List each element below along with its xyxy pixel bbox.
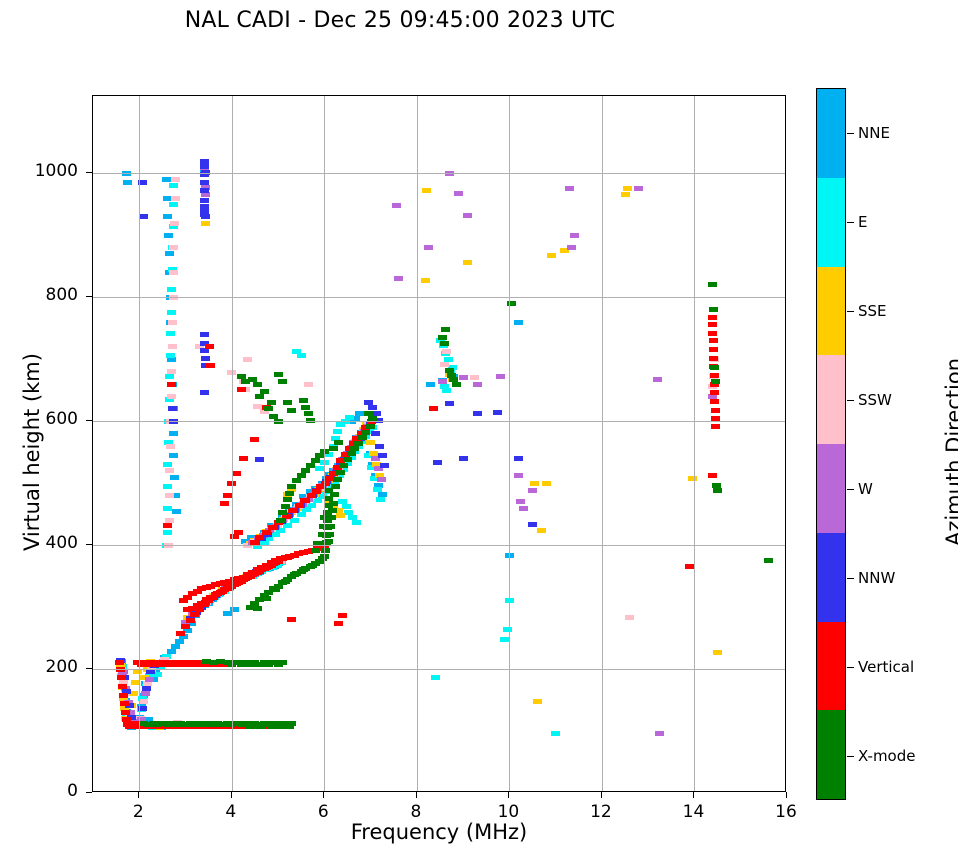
ionogram-plot-area[interactable] — [92, 95, 786, 792]
figure-root: NAL CADI - Dec 25 09:45:00 2023 UTC Freq… — [0, 0, 958, 857]
echo-point-w — [570, 233, 579, 238]
x-tick — [508, 792, 509, 798]
echo-point-vertical — [255, 535, 264, 540]
echo-point-nnw — [380, 463, 389, 468]
echo-point-w — [528, 488, 537, 493]
echo-point-e — [352, 520, 361, 525]
echo-point-nnw — [459, 456, 468, 461]
echo-point-sse — [422, 188, 431, 193]
x-tick-label: 12 — [571, 802, 631, 822]
echo-point-x-mode — [315, 453, 324, 458]
echo-point-x-mode — [361, 430, 370, 435]
echo-point-x-mode — [709, 307, 718, 312]
echo-point-vertical — [709, 347, 718, 352]
y-axis-label: Virtual height (km) — [20, 282, 44, 622]
echo-point-vertical — [709, 356, 718, 361]
echo-point-ssw — [165, 468, 174, 473]
echo-point-x-mode — [343, 457, 352, 462]
echo-point-x-mode — [304, 411, 313, 416]
colorbar-segment-x-mode — [817, 710, 845, 799]
echo-point-x-mode — [278, 510, 287, 515]
echo-point-x-mode — [438, 335, 447, 340]
echo-point-sse — [623, 186, 632, 191]
gridline-vertical — [509, 96, 510, 791]
echo-point-x-mode — [331, 484, 340, 489]
colorbar-label-nnw: NNW — [858, 569, 895, 587]
echo-point-x-mode — [339, 463, 348, 468]
echo-point-nnw — [200, 180, 209, 185]
gridline-horizontal — [93, 173, 785, 174]
echo-point-sse — [530, 481, 539, 486]
echo-point-nnw — [201, 356, 210, 361]
x-tick-label: 2 — [108, 802, 168, 822]
x-tick — [786, 792, 787, 798]
echo-point-x-mode — [301, 405, 310, 410]
echo-point-x-mode — [708, 282, 717, 287]
echo-point-ssw — [442, 349, 451, 354]
echo-point-w — [424, 245, 433, 250]
echo-point-e — [315, 466, 324, 471]
gridline-horizontal — [93, 669, 785, 670]
echo-point-nne — [514, 320, 523, 325]
echo-point-x-mode — [358, 435, 367, 440]
echo-point-nne — [171, 644, 180, 649]
echo-point-vertical — [117, 675, 126, 680]
echo-point-sse — [621, 192, 630, 197]
echo-point-x-mode — [330, 492, 339, 497]
echo-point-x-mode — [366, 424, 375, 429]
echo-point-w — [145, 677, 154, 682]
echo-point-w — [394, 276, 403, 281]
echo-point-w — [459, 375, 468, 380]
colorbar-label-ssw: SSW — [858, 391, 892, 409]
echo-point-nne — [175, 639, 184, 644]
echo-point-nnw — [255, 457, 264, 462]
echo-point-ssw — [625, 615, 634, 620]
echo-point-e — [169, 183, 178, 188]
echo-point-x-mode — [441, 327, 450, 332]
colorbar-segment-vertical — [817, 622, 845, 711]
echo-point-e — [165, 374, 174, 379]
colorbar-segment-nne — [817, 89, 845, 178]
echo-point-w — [655, 731, 664, 736]
echo-point-x-mode — [325, 532, 334, 537]
echo-point-e — [342, 504, 351, 509]
echo-point-e — [166, 353, 175, 358]
echo-point-w — [463, 213, 472, 218]
echo-point-w — [516, 499, 525, 504]
echo-point-x-mode — [285, 491, 294, 496]
colorbar-tick — [847, 222, 854, 224]
echo-point-nne — [355, 411, 364, 416]
echo-point-x-mode — [354, 441, 363, 446]
echo-point-vertical — [708, 473, 717, 478]
echo-point-nnw — [433, 460, 442, 465]
echo-point-e — [551, 731, 560, 736]
echo-point-x-mode — [334, 440, 343, 445]
colorbar-tick — [847, 578, 854, 580]
gridline-vertical — [232, 96, 233, 791]
y-tick-label: 600 — [8, 409, 78, 429]
colorbar-segment-ssw — [817, 355, 845, 444]
echo-point-x-mode — [274, 372, 283, 377]
y-tick — [86, 296, 92, 297]
colorbar-tick — [847, 133, 854, 135]
echo-point-nnw — [445, 401, 454, 406]
echo-point-vertical — [312, 489, 321, 494]
echo-point-nne — [163, 214, 172, 219]
echo-point-x-mode — [336, 470, 345, 475]
echo-point-nnw — [514, 456, 523, 461]
echo-point-x-mode — [713, 488, 722, 493]
echo-point-w — [454, 191, 463, 196]
colorbar-segment-w — [817, 444, 845, 533]
echo-point-vertical — [115, 660, 124, 665]
colorbar-label-sse: SSE — [858, 302, 887, 320]
echo-point-vertical — [167, 382, 176, 387]
scatter-layer — [93, 96, 785, 791]
echo-point-sse — [542, 481, 551, 486]
echo-point-vertical — [190, 612, 199, 617]
echo-point-vertical — [709, 338, 718, 343]
echo-point-vertical — [181, 624, 190, 629]
x-tick — [231, 792, 232, 798]
echo-point-e — [376, 497, 385, 502]
echo-point-x-mode — [283, 497, 292, 502]
y-tick-label: 800 — [8, 285, 78, 305]
echo-point-vertical — [223, 493, 232, 498]
echo-point-x-mode — [329, 446, 338, 451]
echo-point-e — [167, 310, 176, 315]
echo-point-e — [290, 518, 299, 523]
echo-point-x-mode — [253, 382, 262, 387]
echo-point-w — [634, 186, 643, 191]
echo-point-vertical — [268, 525, 277, 530]
colorbar-segment-e — [817, 178, 845, 267]
echo-point-w — [392, 203, 401, 208]
echo-point-nnw — [375, 444, 384, 449]
echo-point-nnw — [200, 204, 209, 209]
echo-point-w — [519, 506, 528, 511]
echo-point-x-mode — [264, 406, 273, 411]
echo-point-x-mode — [253, 606, 262, 611]
echo-point-ssw — [167, 369, 176, 374]
echo-point-x-mode — [329, 501, 338, 506]
gridline-vertical — [324, 96, 325, 791]
echo-point-vertical — [120, 701, 129, 706]
echo-point-vertical — [234, 530, 243, 535]
echo-point-vertical — [220, 501, 229, 506]
echo-point-x-mode — [308, 563, 317, 568]
echo-point-vertical — [288, 508, 297, 513]
x-tick-label: 10 — [478, 802, 538, 822]
echo-point-x-mode — [306, 463, 315, 468]
echo-point-vertical — [250, 437, 259, 442]
echo-point-ssw — [243, 357, 252, 362]
echo-point-e — [297, 353, 306, 358]
x-tick-label: 14 — [663, 802, 723, 822]
echo-point-x-mode — [287, 408, 296, 413]
echo-point-vertical — [710, 399, 719, 404]
echo-point-nne — [169, 431, 178, 436]
echo-point-vertical — [237, 387, 246, 392]
echo-point-e — [163, 462, 172, 467]
echo-point-vertical — [206, 363, 215, 368]
echo-point-x-mode — [347, 451, 356, 456]
colorbar-segment-nnw — [817, 533, 845, 622]
echo-point-vertical — [121, 710, 130, 715]
gridline-vertical — [417, 96, 418, 791]
echo-point-vertical — [708, 315, 717, 320]
echo-point-nnw — [493, 410, 502, 415]
echo-point-nnw — [200, 159, 209, 164]
echo-point-vertical — [176, 631, 185, 636]
echo-point-sse — [713, 650, 722, 655]
echo-point-sse — [533, 699, 542, 704]
x-tick-label: 16 — [756, 802, 816, 822]
echo-point-ssw — [167, 394, 176, 399]
echo-point-vertical — [708, 331, 717, 336]
echo-point-ssw — [170, 221, 179, 226]
echo-point-vertical — [338, 613, 347, 618]
gridline-vertical — [602, 96, 603, 791]
echo-point-nnw — [371, 431, 380, 436]
echo-point-x-mode — [328, 508, 337, 513]
echo-point-nne — [165, 251, 174, 256]
echo-point-nne — [123, 180, 132, 185]
echo-point-w — [473, 382, 482, 387]
y-tick — [86, 544, 92, 545]
x-axis-label: Frequency (MHz) — [92, 820, 786, 844]
echo-point-x-mode — [271, 587, 280, 592]
echo-point-vertical — [710, 373, 719, 378]
echo-point-nne — [164, 233, 173, 238]
gridline-horizontal — [93, 545, 785, 546]
echo-point-x-mode — [710, 365, 719, 370]
echo-point-nne — [426, 382, 435, 387]
echo-point-vertical — [334, 621, 343, 626]
echo-point-x-mode — [281, 504, 290, 509]
echo-point-nne — [170, 475, 179, 480]
colorbar-tick — [847, 400, 854, 402]
echo-point-x-mode — [241, 379, 250, 384]
echo-point-e — [166, 331, 175, 336]
echo-point-sse — [336, 513, 345, 518]
echo-point-sse — [201, 221, 210, 226]
echo-point-x-mode — [297, 473, 306, 478]
echo-point-w — [514, 473, 523, 478]
colorbar-tick — [847, 489, 854, 491]
echo-point-ssw — [470, 375, 479, 380]
echo-point-x-mode — [283, 400, 292, 405]
echo-point-x-mode — [267, 724, 276, 729]
x-tick-label: 4 — [201, 802, 261, 822]
x-tick — [416, 792, 417, 798]
echo-point-w — [653, 377, 662, 382]
echo-point-x-mode — [276, 518, 285, 523]
echo-point-vertical — [186, 618, 195, 623]
figure-title: NAL CADI - Dec 25 09:45:00 2023 UTC — [0, 8, 800, 33]
y-tick-label: 400 — [8, 533, 78, 553]
echo-point-vertical — [429, 406, 438, 411]
echo-point-x-mode — [324, 539, 333, 544]
echo-point-vertical — [239, 456, 248, 461]
echo-point-ssw — [304, 382, 313, 387]
echo-point-x-mode — [333, 477, 342, 482]
echo-point-x-mode — [350, 446, 359, 451]
x-tick — [601, 792, 602, 798]
gridline-vertical — [694, 96, 695, 791]
gridline-horizontal — [93, 421, 785, 422]
echo-point-ssw — [171, 196, 180, 201]
echo-point-ssw — [139, 699, 148, 704]
echo-point-ssw — [165, 493, 174, 498]
echo-point-x-mode — [267, 400, 276, 405]
colorbar-label-vertical: Vertical — [858, 658, 914, 676]
echo-point-e — [163, 484, 172, 489]
colorbar-tick — [847, 667, 854, 669]
echo-point-ssw — [169, 245, 178, 250]
colorbar-segment-sse — [817, 267, 845, 356]
echo-point-ssw — [168, 344, 177, 349]
echo-point-nne — [162, 177, 171, 182]
echo-point-sse — [537, 528, 546, 533]
echo-point-w — [496, 374, 505, 379]
echo-point-x-mode — [311, 458, 320, 463]
echo-point-ssw — [166, 444, 175, 449]
echo-point-e — [373, 487, 382, 492]
echo-point-sse — [463, 260, 472, 265]
echo-point-nnw — [473, 411, 482, 416]
echo-point-vertical — [287, 617, 296, 622]
echo-point-vertical — [708, 322, 717, 327]
echo-point-nne — [172, 509, 181, 514]
y-tick — [86, 792, 92, 793]
echo-point-ssw — [169, 270, 178, 275]
echo-point-x-mode — [311, 548, 320, 553]
echo-point-nnw — [368, 405, 377, 410]
echo-point-x-mode — [260, 389, 269, 394]
echo-point-x-mode — [292, 478, 301, 483]
echo-point-e — [345, 415, 354, 420]
echo-point-x-mode — [301, 468, 310, 473]
colorbar[interactable] — [816, 88, 846, 800]
echo-point-nnw — [200, 198, 209, 203]
echo-point-vertical — [119, 693, 128, 698]
echo-point-vertical — [711, 408, 720, 413]
echo-point-vertical — [118, 684, 127, 689]
y-tick-label: 200 — [8, 657, 78, 677]
echo-point-x-mode — [255, 394, 264, 399]
y-tick — [86, 172, 92, 173]
echo-point-ssw — [440, 362, 449, 367]
echo-point-nne — [169, 453, 178, 458]
echo-point-x-mode — [711, 379, 720, 384]
echo-point-sse — [421, 278, 430, 283]
x-tick — [323, 792, 324, 798]
echo-point-vertical — [232, 471, 241, 476]
echo-point-e — [442, 388, 451, 393]
echo-point-x-mode — [281, 579, 290, 584]
gridline-horizontal — [93, 297, 785, 298]
x-tick-label: 6 — [293, 802, 353, 822]
echo-point-x-mode — [764, 558, 773, 563]
echo-point-vertical — [295, 503, 304, 508]
echo-point-x-mode — [216, 659, 225, 664]
echo-point-e — [431, 675, 440, 680]
echo-point-nnw — [168, 406, 177, 411]
echo-point-w — [377, 477, 386, 482]
echo-point-e — [163, 530, 172, 535]
echo-point-x-mode — [278, 660, 287, 665]
echo-point-vertical — [163, 523, 172, 528]
echo-point-vertical — [300, 498, 309, 503]
colorbar-label-w: W — [858, 480, 873, 498]
echo-point-e — [500, 637, 509, 642]
echo-point-e — [167, 287, 176, 292]
echo-point-nnw — [200, 164, 209, 169]
echo-point-ssw — [168, 320, 177, 325]
colorbar-tick — [847, 311, 854, 313]
colorbar-label-x-mode: X-mode — [858, 747, 915, 765]
echo-point-vertical — [711, 424, 720, 429]
echo-point-vertical — [262, 530, 271, 535]
echo-point-x-mode — [278, 379, 287, 384]
echo-point-x-mode — [299, 567, 308, 572]
y-tick-label: 1000 — [8, 161, 78, 181]
echo-point-x-mode — [290, 572, 299, 577]
echo-point-x-mode — [287, 484, 296, 489]
echo-point-sse — [547, 253, 556, 258]
echo-point-w — [567, 245, 576, 250]
echo-point-x-mode — [262, 596, 271, 601]
echo-point-e — [163, 506, 172, 511]
colorbar-label-nne: NNE — [858, 124, 890, 142]
echo-point-vertical — [205, 344, 214, 349]
echo-point-e — [169, 202, 178, 207]
echo-point-x-mode — [257, 724, 266, 729]
x-tick-label: 8 — [386, 802, 446, 822]
echo-point-nnw — [378, 453, 387, 458]
echo-point-x-mode — [285, 724, 294, 729]
echo-point-nnw — [200, 188, 209, 193]
echo-point-ssw — [171, 177, 180, 182]
echo-point-x-mode — [452, 382, 461, 387]
echo-point-nnw — [200, 332, 209, 337]
echo-point-nnw — [139, 214, 148, 219]
colorbar-label-e: E — [858, 213, 867, 231]
y-tick-label: 0 — [8, 781, 78, 801]
echo-point-vertical — [685, 564, 694, 569]
echo-point-w — [141, 691, 150, 696]
echo-point-sse — [366, 440, 375, 445]
echo-point-x-mode — [299, 398, 308, 403]
x-tick — [138, 792, 139, 798]
echo-point-vertical — [710, 390, 719, 395]
colorbar-tick — [847, 756, 854, 758]
echo-point-x-mode — [440, 341, 449, 346]
echo-point-e — [333, 429, 342, 434]
echo-point-w — [438, 379, 447, 384]
y-tick — [86, 420, 92, 421]
echo-point-nnw — [200, 390, 209, 395]
echo-point-w — [565, 186, 574, 191]
echo-point-nnw — [528, 522, 537, 527]
x-tick — [693, 792, 694, 798]
colorbar-title: Azimuth Direction — [942, 282, 958, 622]
echo-point-nnw — [142, 686, 151, 691]
echo-point-nnw — [200, 212, 209, 217]
